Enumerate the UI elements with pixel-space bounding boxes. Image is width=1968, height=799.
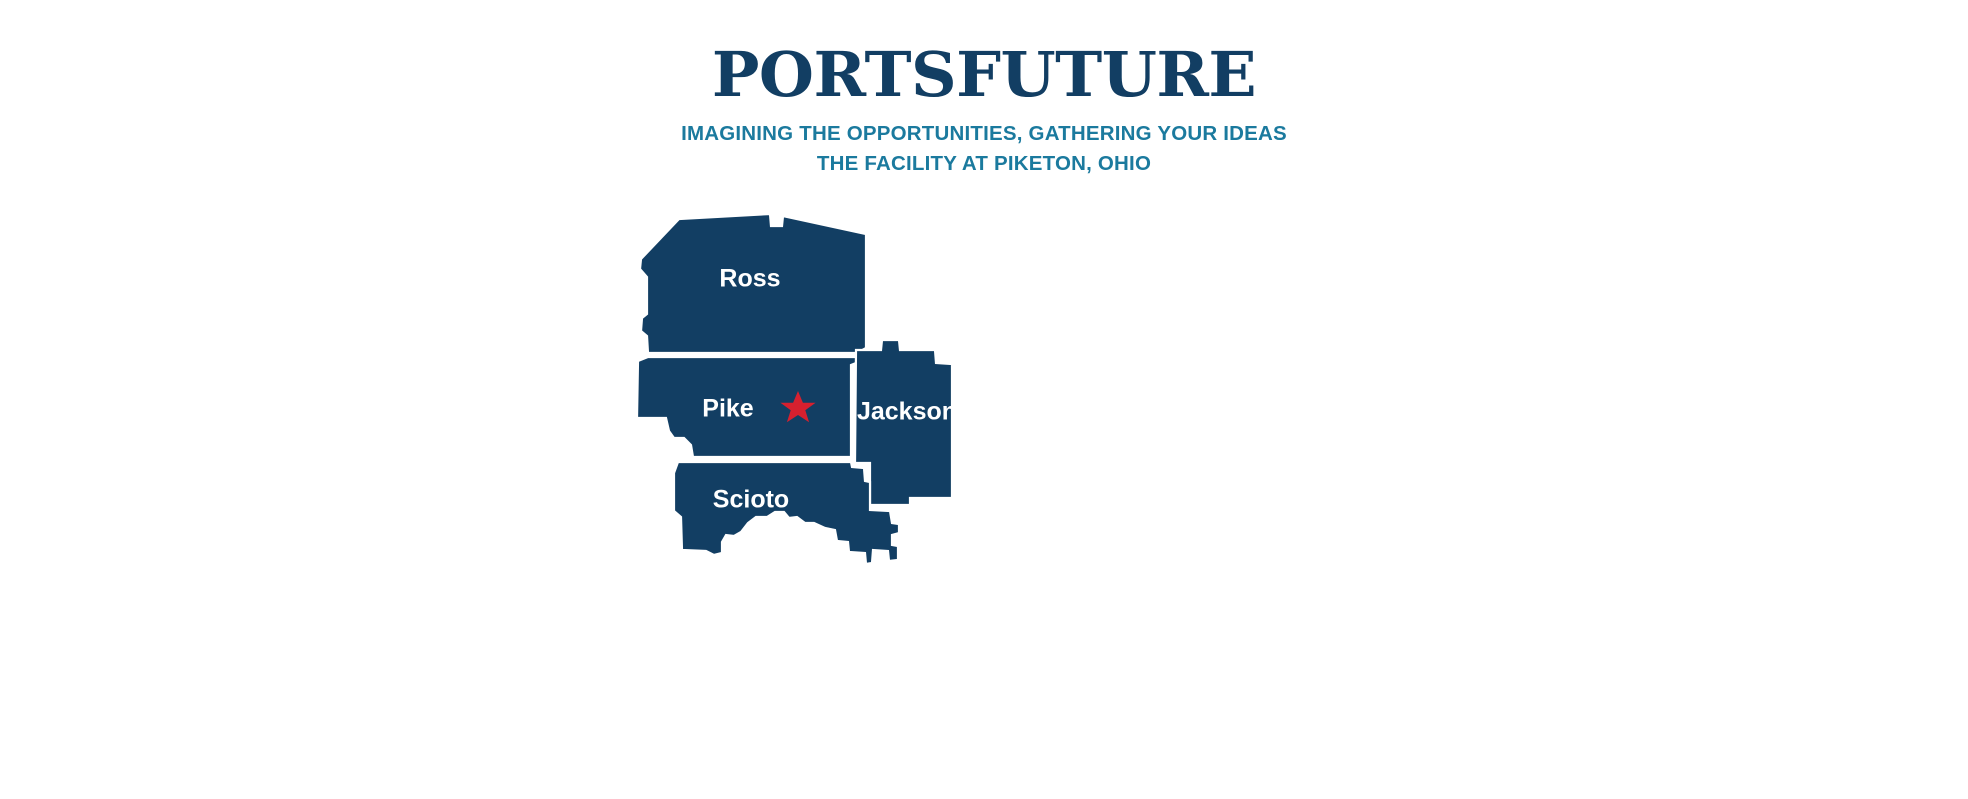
tagline-primary: IMAGINING THE OPPORTUNITIES, GATHERING Y…: [0, 120, 1968, 147]
county-label-scioto: Scioto: [713, 486, 789, 514]
county-label-jackson: Jackson: [857, 398, 957, 426]
county-label-ross: Ross: [719, 265, 780, 293]
ohio-county-map: Ross Pike Jackson Scioto: [622, 205, 962, 585]
portsfuture-banner: PORTSFUTURE IMAGINING THE OPPORTUNITIES,…: [0, 0, 1968, 799]
portsfuture-logo-wordmark: PORTSFUTURE: [0, 44, 1968, 106]
brand-block: PORTSFUTURE IMAGINING THE OPPORTUNITIES,…: [0, 44, 1968, 177]
county-map-svg: Ross Pike Jackson Scioto: [622, 205, 962, 585]
county-label-pike: Pike: [702, 395, 754, 423]
tagline-secondary: THE FACILITY AT PIKETON, OHIO: [0, 150, 1968, 177]
